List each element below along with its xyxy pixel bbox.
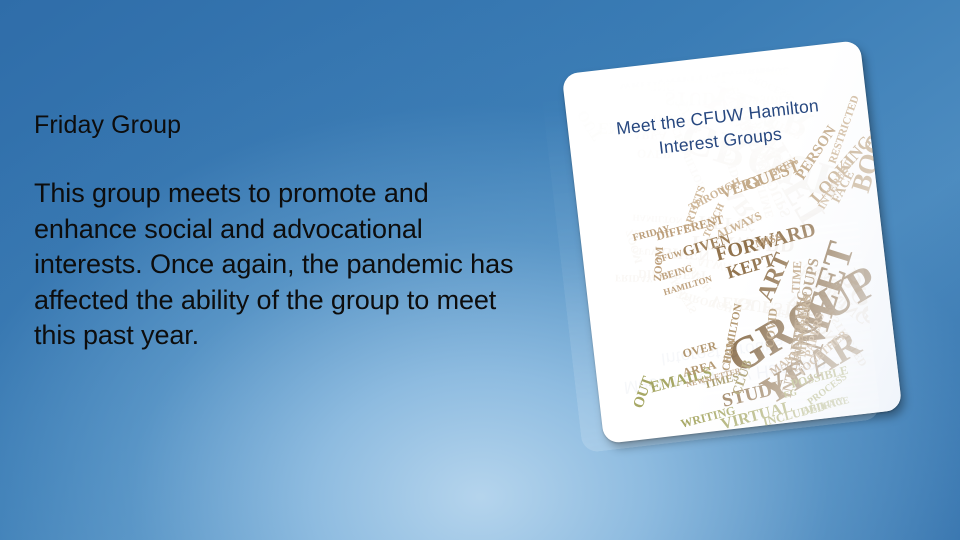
picture-card[interactable]: Meet the CFUW Hamilton Interest Groups G… — [562, 40, 903, 444]
slide-body-text: This group meets to promote and enhance … — [34, 176, 514, 354]
slide-text-column: Friday Group This group meets to promote… — [34, 110, 514, 354]
word-cloud-word: COVID — [763, 308, 779, 349]
word-cloud-word: TIME — [789, 260, 803, 293]
word-cloud: GROUPMEETYEARARTFORWARDKEPTINTEREST GROU… — [573, 135, 903, 444]
word-cloud-word: OVER — [681, 339, 718, 359]
picture-card-container: Meet the CFUW Hamilton Interest Groups G… — [566, 44, 926, 464]
page-title: Friday Group — [34, 110, 514, 141]
slide-canvas: Friday Group This group meets to promote… — [0, 0, 960, 540]
